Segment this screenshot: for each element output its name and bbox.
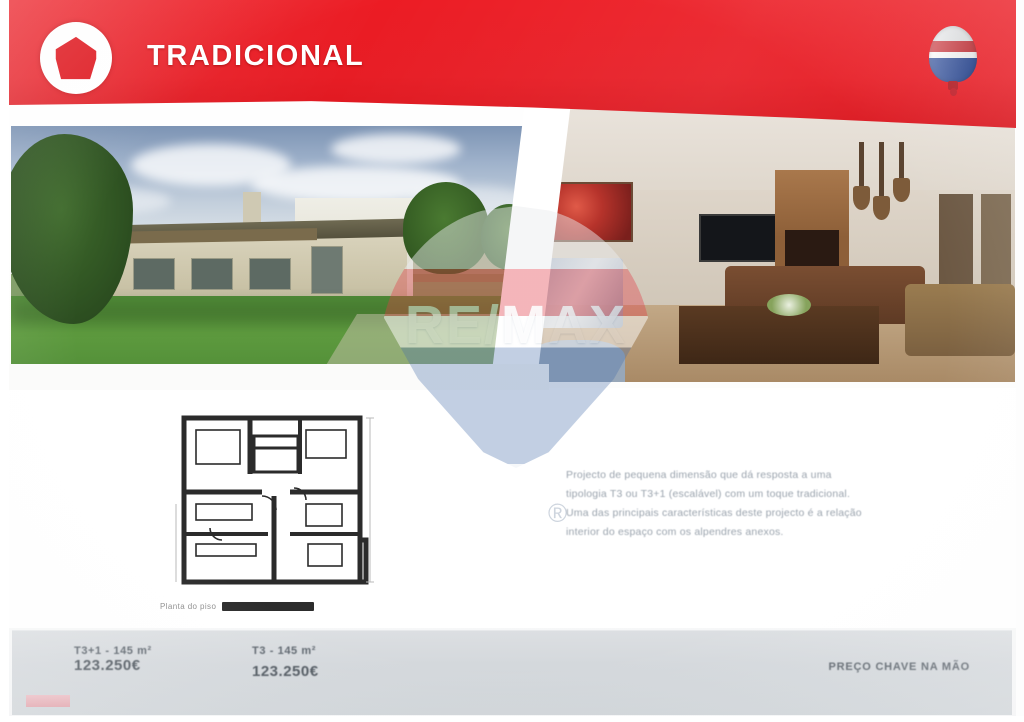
page-margin-left	[0, 0, 9, 722]
page-title: TRADICIONAL	[147, 40, 364, 73]
pendant-cord	[899, 142, 904, 180]
floor-plan-caption-text: Planta do piso	[160, 602, 216, 611]
page-margin-right	[1016, 0, 1024, 722]
flower-arrangement	[767, 294, 811, 316]
remax-balloon-icon	[924, 26, 982, 98]
doorway	[981, 194, 1011, 286]
pendant-cord	[859, 142, 864, 188]
cloud	[331, 134, 461, 164]
typology-title: T3+1 - 145 m²	[74, 645, 152, 657]
pendant-lamp	[853, 186, 870, 210]
interior-living-room-photo	[529, 108, 1015, 382]
house-shape	[54, 36, 98, 80]
window	[249, 258, 291, 290]
footer-bar: T3+1 - 145 m² 123.250€ T3 - 145 m² 123.2…	[12, 630, 1012, 715]
old-price-strikethrough	[26, 695, 70, 707]
window	[311, 246, 343, 294]
description-text: Projecto de pequena dimensão que dá resp…	[566, 466, 866, 542]
tree	[403, 182, 489, 274]
fireplace-opening	[785, 230, 839, 266]
page-margin-bottom	[0, 716, 1024, 722]
description-line: Projecto de pequena dimensão que dá resp…	[566, 466, 866, 485]
description-line: Uma das principais características deste…	[566, 504, 866, 523]
floor-plan-caption: Planta do piso	[160, 598, 410, 614]
typology-price: 123.250€	[252, 663, 319, 680]
wall-artwork	[551, 182, 633, 242]
doorway	[939, 194, 973, 286]
window	[133, 258, 175, 290]
description-line: interior do espaço com os alpendres anex…	[566, 523, 866, 542]
pendant-cord	[879, 142, 884, 198]
typology-price: 123.250€	[74, 657, 141, 674]
window	[191, 258, 233, 290]
photo-band	[9, 108, 1016, 390]
header-banner: TRADICIONAL	[9, 0, 1016, 128]
floor-plan-drawing	[170, 408, 388, 600]
floor-plan-caption-block	[222, 602, 314, 611]
exterior-house-photo	[11, 126, 531, 390]
balloon-drop	[950, 88, 957, 96]
pendant-lamp	[893, 178, 910, 202]
house-pentagon-icon	[40, 22, 112, 94]
photo-divider-lower	[9, 364, 549, 390]
brochure-page: TRADICIONAL	[0, 0, 1024, 722]
typology-t3-1: T3+1 - 145 m² 123.250€	[74, 645, 152, 675]
typology-t3: T3 - 145 m² 123.250€	[252, 645, 319, 680]
armchair	[905, 284, 1015, 356]
typology-title: T3 - 145 m²	[252, 645, 319, 657]
pendant-lamp	[873, 196, 890, 220]
balloon-envelope	[929, 26, 977, 82]
footer-note: PREÇO CHAVE NA MÃO	[828, 661, 970, 673]
television	[699, 214, 781, 262]
description-line: tipologia T3 ou T3+1 (escalável) com um …	[566, 485, 866, 504]
